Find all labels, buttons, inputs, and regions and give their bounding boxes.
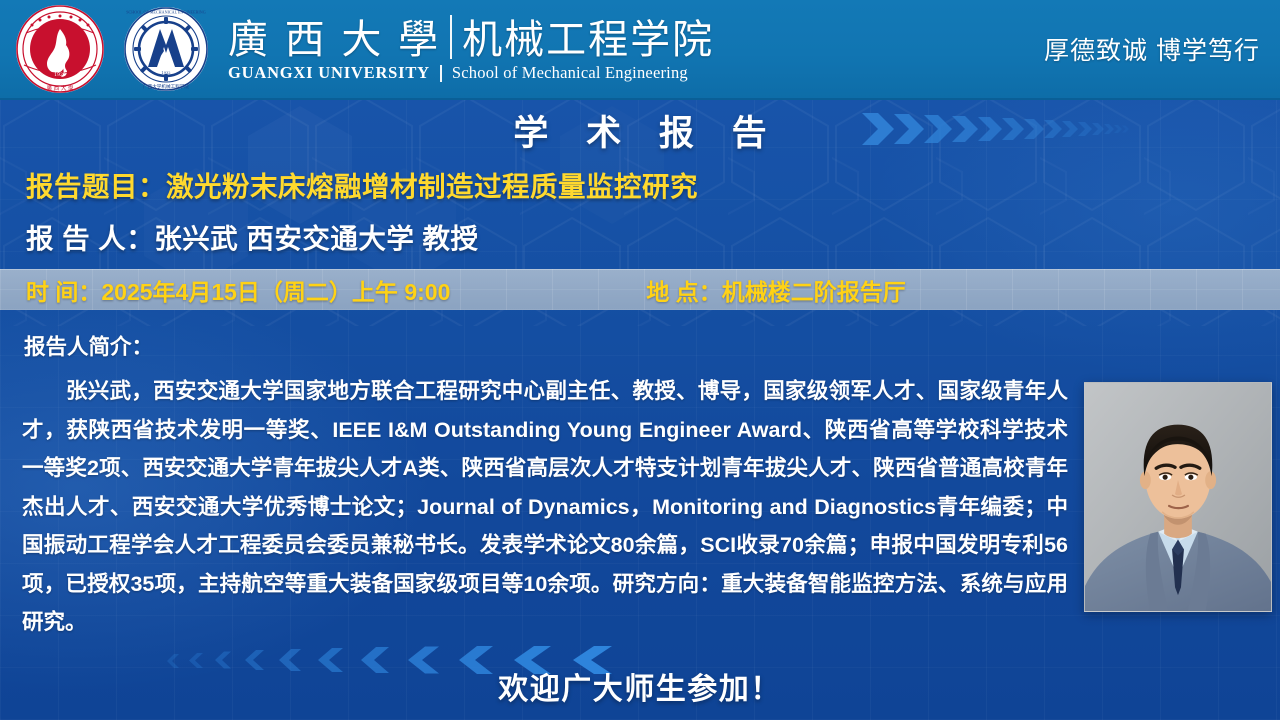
svg-text:1932: 1932 [161, 71, 170, 75]
school-name-en: School of Mechanical Engineering [452, 63, 688, 83]
time-and-place-bar: 时 间：2025年4月15日（周二）上午 9:00 地 点：机械楼二阶报告厅 [0, 269, 1280, 310]
svg-text:廣 西 大 學: 廣 西 大 學 [47, 84, 74, 92]
university-name-en: GUANGXI UNIVERSITY [228, 63, 430, 83]
svg-text:SCHOOL OF MECHANICAL ENGINEERI: SCHOOL OF MECHANICAL ENGINEERING [126, 10, 205, 15]
main-title-row: 学 术 报 告 [0, 101, 1280, 157]
header-band: 廣 西 大 學 1928 [0, 0, 1280, 100]
name-divider-en [440, 65, 442, 82]
svg-text:1928: 1928 [54, 72, 66, 78]
svg-text:广西大学机械工程学院: 广西大学机械工程学院 [143, 83, 189, 90]
bio-body-text: 张兴武，西安交通大学国家地方联合工程研究中心副主任、教授、博导，国家级领军人才、… [22, 372, 1068, 642]
bio-heading: 报告人简介： [24, 330, 153, 361]
lecture-time: 时 间：2025年4月15日（周二）上午 9:00 [26, 273, 450, 307]
school-name-cn: 机械工程学院 [462, 19, 714, 61]
guangxi-university-seal-icon: 廣 西 大 學 1928 [8, 3, 112, 95]
welcome-message: 欢迎广大师生参加！ [0, 664, 1280, 708]
lecture-topic: 报告题目：激光粉末床熔融增材制造过程质量监控研究 [26, 164, 698, 204]
school-of-mechanical-engineering-seal-icon: SCHOOL OF MECHANICAL ENGINEERING 广西大学机械工… [118, 5, 214, 93]
name-divider [450, 15, 452, 59]
lecture-place: 地 点：机械楼二阶报告厅 [646, 273, 905, 307]
university-motto: 厚德致诚 博学笃行 [1044, 31, 1260, 67]
academic-lecture-poster: 廣 西 大 學 1928 [0, 0, 1280, 720]
chevron-right-decoration [862, 111, 1262, 147]
lecture-speaker: 报 告 人：张兴武 西安交通大学 教授 [26, 216, 479, 256]
school-name-block: 廣 西 大 學 机械工程学院 GUANGXI UNIVERSITY School… [228, 15, 714, 83]
speaker-portrait [1084, 382, 1272, 612]
university-name-cn: 廣 西 大 學 [228, 19, 440, 61]
